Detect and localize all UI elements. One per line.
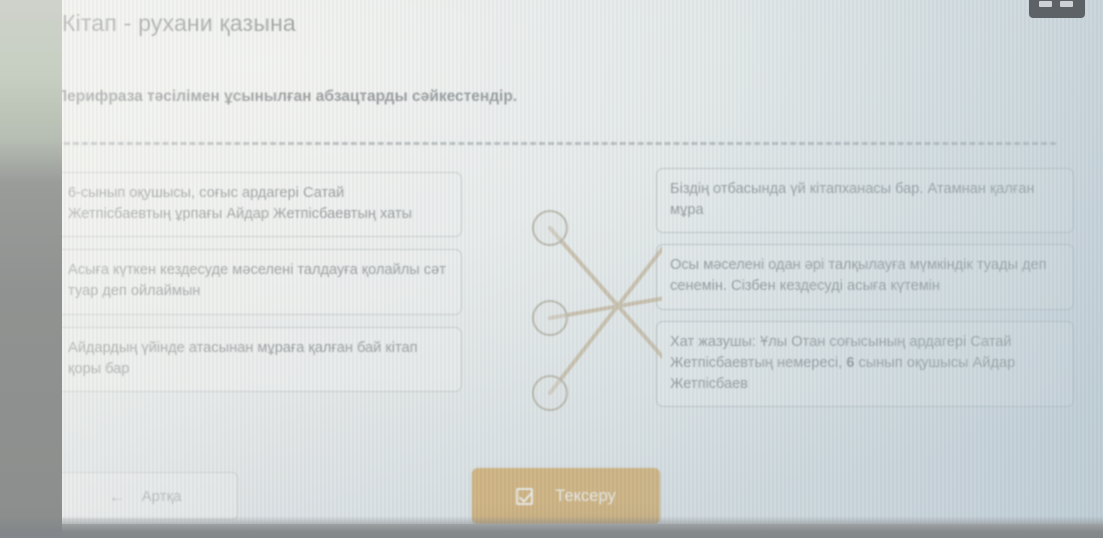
- right-options-column: Біздің отбасында үй кітапханасы бар. Ата…: [656, 168, 1074, 418]
- quiz-screen: Кітап - рухани қазына Перифраза тәсіліме…: [62, 0, 1103, 524]
- connector-lines-svg: [450, 168, 662, 438]
- checkbox-icon: [516, 488, 533, 505]
- left-options-column: 6-сынып оқушысы, соғыс ардагері Сатай Же…: [62, 172, 462, 404]
- arrow-left-icon: ←: [109, 488, 126, 505]
- photo-bottom-edge: [0, 516, 1103, 538]
- left-option-card-2[interactable]: Асыға күткен кездесуде мәселені талдауға…: [62, 249, 462, 314]
- back-button-label: Артқа: [142, 488, 182, 505]
- match-connector-area[interactable]: [450, 168, 662, 438]
- left-option-card-1[interactable]: 6-сынып оқушысы, соғыс ардагері Сатай Же…: [62, 172, 462, 237]
- connector-node-left-3: [533, 376, 567, 410]
- photographed-screen: Кітап - рухани қазына Перифраза тәсіліме…: [0, 0, 1103, 538]
- connector-node-left-1: [533, 211, 567, 245]
- top-right-hardware-chip: [1029, 0, 1085, 18]
- right-option-card-3[interactable]: Хат жазушы: Ұлы Отан соғысының ардагері …: [656, 321, 1074, 407]
- chip-segment-left: [1039, 1, 1052, 7]
- left-option-card-3[interactable]: Айдардың үйінде атасынан мұраға қалған б…: [62, 327, 462, 392]
- check-button-label: Тексеру: [555, 487, 615, 506]
- question-prompt: Перифраза тәсілімен ұсынылған абзацтарды…: [62, 88, 517, 106]
- back-button[interactable]: ← Артқа: [62, 472, 238, 520]
- dashed-divider: [62, 142, 1056, 145]
- right-option-card-1[interactable]: Біздің отбасында үй кітапханасы бар. Ата…: [656, 168, 1074, 233]
- chip-segment-right: [1060, 1, 1073, 7]
- connector-node-left-2: [533, 301, 567, 335]
- right-option-card-2[interactable]: Осы мәселені одан әрі талқылауға мүмкінд…: [656, 244, 1074, 309]
- page-title: Кітап - рухани қазына: [62, 10, 296, 37]
- photo-left-edge: [0, 0, 62, 538]
